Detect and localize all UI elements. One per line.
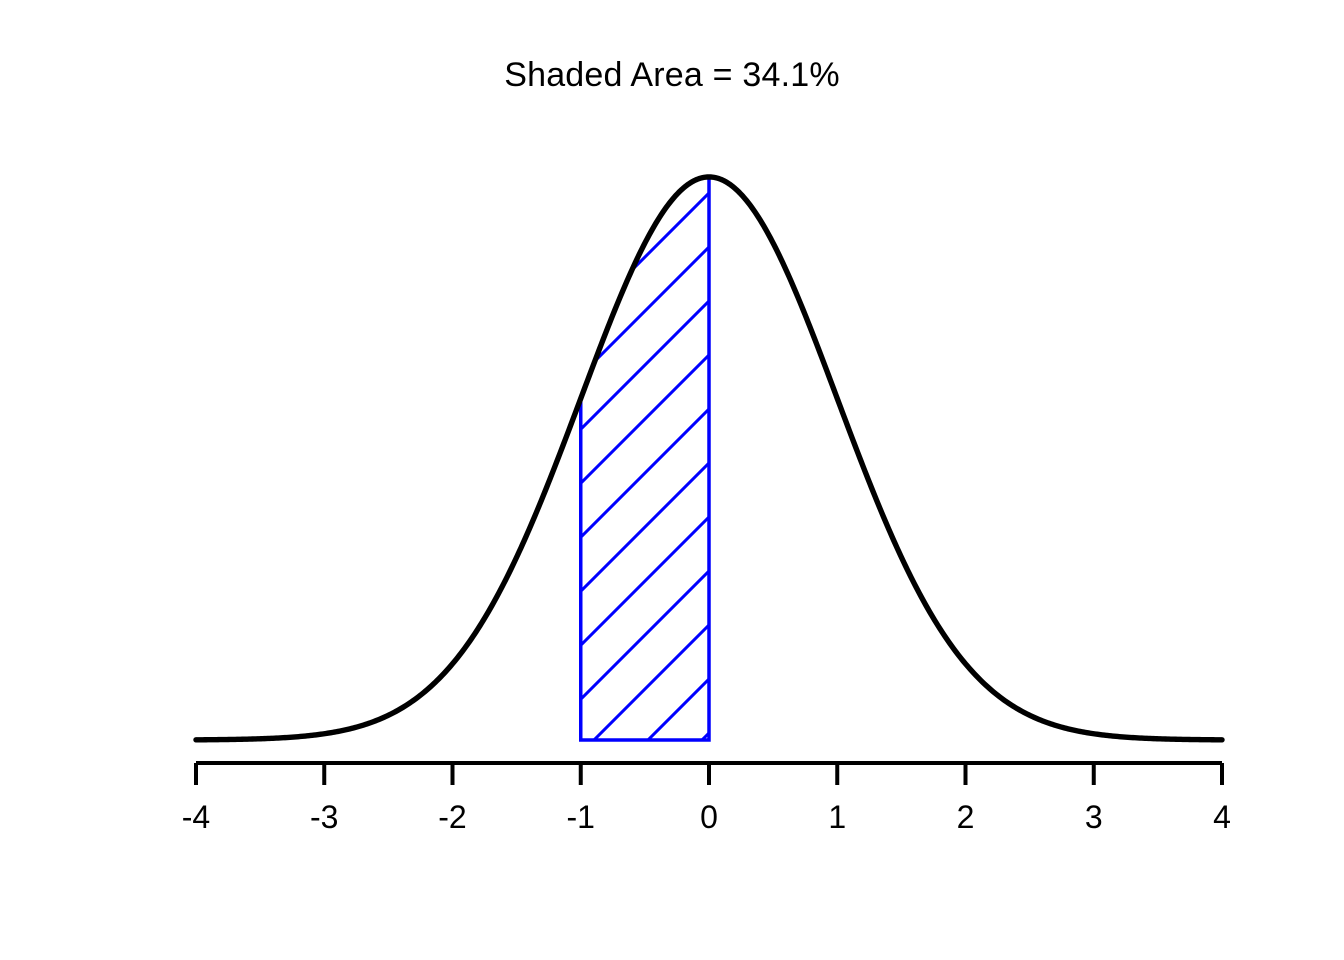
x-axis-tick-label: -1 bbox=[567, 799, 595, 836]
normal-distribution-plot: Shaded Area = 34.1% -4-3-2-101234 bbox=[0, 0, 1344, 960]
x-axis-tick-label: -2 bbox=[438, 799, 466, 836]
x-axis-tick-labels: -4-3-2-101234 bbox=[0, 0, 1344, 960]
x-axis-tick-label: 1 bbox=[828, 799, 846, 836]
x-axis-tick-label: 3 bbox=[1085, 799, 1103, 836]
x-axis-tick-label: 2 bbox=[957, 799, 975, 836]
x-axis-tick-label: -3 bbox=[310, 799, 338, 836]
x-axis-tick-label: 0 bbox=[700, 799, 718, 836]
x-axis-tick-label: -4 bbox=[182, 799, 210, 836]
x-axis-tick-label: 4 bbox=[1213, 799, 1231, 836]
